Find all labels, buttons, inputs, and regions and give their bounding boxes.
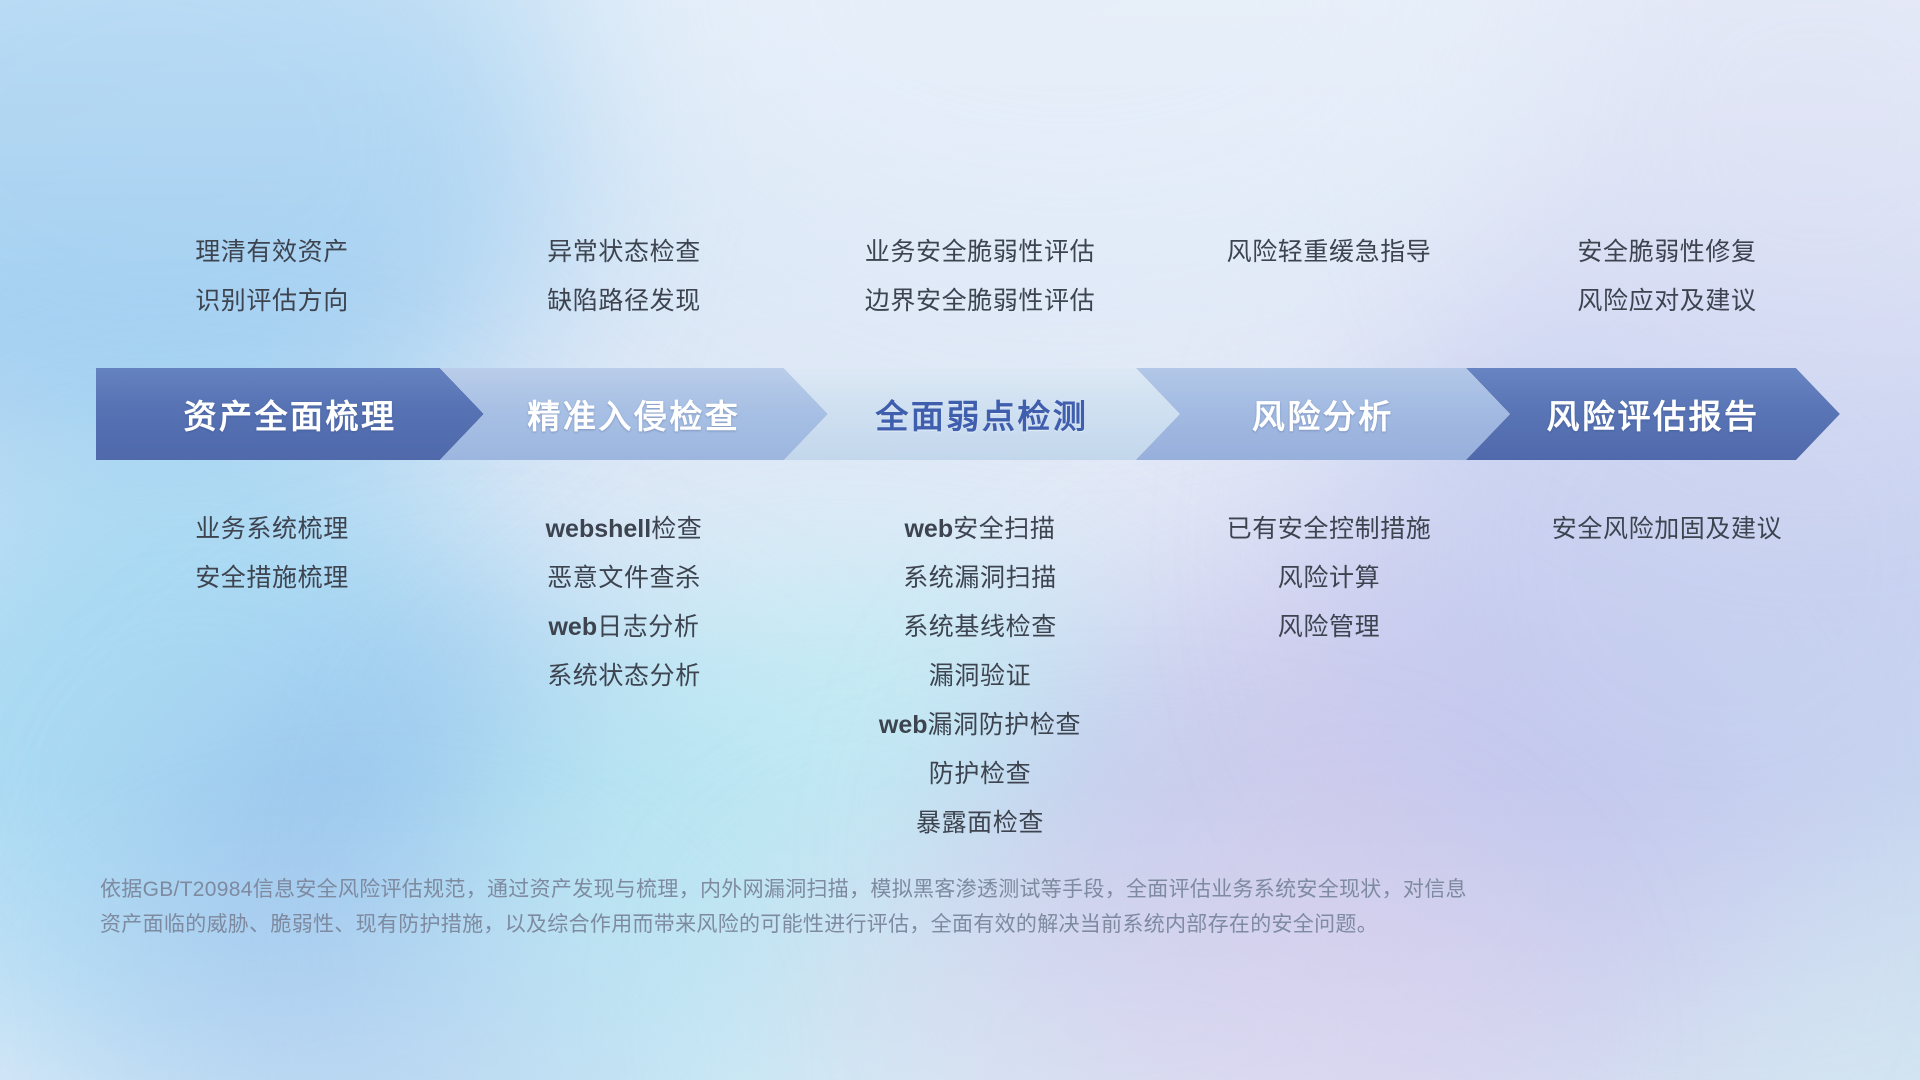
footer-line-1: 依据GB/T20984信息安全风险评估规范，通过资产发现与梳理，内外网漏洞扫描，…: [100, 872, 1640, 907]
bottom-items-row: 业务系统梳理 安全措施梳理 webshell检查 恶意文件查杀 web日志分析 …: [96, 505, 1836, 848]
top-items-row: 理清有效资产 识别评估方向 异常状态检查 缺陷路径发现 业务安全脆弱性评估 边界…: [96, 228, 1836, 326]
bottom-item: web漏洞防护检查: [800, 701, 1160, 750]
bottom-item: 已有安全控制措施: [1160, 505, 1498, 554]
top-item: 风险应对及建议: [1498, 277, 1836, 326]
footer-line-2: 资产面临的威胁、脆弱性、现有防护措施，以及综合作用而带来风险的可能性进行评估，全…: [100, 907, 1640, 942]
top-item: 理清有效资产: [96, 228, 448, 277]
bottom-item: web日志分析: [448, 603, 800, 652]
footer-description: 依据GB/T20984信息安全风险评估规范，通过资产发现与梳理，内外网漏洞扫描，…: [100, 872, 1640, 942]
bottom-item: 系统漏洞扫描: [800, 554, 1160, 603]
process-ribbon: 资产全面梳理 精准入侵检查 全面弱点检测 风险分析 风险评估报告: [96, 368, 1840, 460]
bottom-item: 风险计算: [1160, 554, 1498, 603]
bottom-column-stage-5: 安全风险加固及建议: [1498, 505, 1836, 554]
bottom-column-stage-3: web安全扫描 系统漏洞扫描 系统基线检查 漏洞验证 web漏洞防护检查 防护检…: [800, 505, 1160, 848]
bottom-item: 暴露面检查: [800, 799, 1160, 848]
bottom-item: 系统状态分析: [448, 652, 800, 701]
bottom-item: 系统基线检查: [800, 603, 1160, 652]
bottom-item: webshell检查: [448, 505, 800, 554]
bottom-item: 风险管理: [1160, 603, 1498, 652]
stage-chevron-4[interactable]: 风险分析: [1136, 368, 1510, 460]
top-item: 识别评估方向: [96, 277, 448, 326]
bottom-item: 漏洞验证: [800, 652, 1160, 701]
stage-chevron-5[interactable]: 风险评估报告: [1466, 368, 1840, 460]
top-item: 安全脆弱性修复: [1498, 228, 1836, 277]
stage-label-1: 资产全面梳理: [183, 390, 396, 438]
bottom-item: 防护检查: [800, 750, 1160, 799]
bottom-column-stage-4: 已有安全控制措施 风险计算 风险管理: [1160, 505, 1498, 652]
bottom-item: 业务系统梳理: [96, 505, 448, 554]
diagram-canvas: 理清有效资产 识别评估方向 异常状态检查 缺陷路径发现 业务安全脆弱性评估 边界…: [0, 0, 1920, 1080]
stage-chevron-3[interactable]: 全面弱点检测: [784, 368, 1180, 460]
stage-label-2: 精准入侵检查: [527, 390, 740, 438]
top-item: 风险轻重缓急指导: [1160, 228, 1498, 277]
stage-label-5: 风险评估报告: [1546, 390, 1759, 438]
top-item: 缺陷路径发现: [448, 277, 800, 326]
top-column-stage-1: 理清有效资产 识别评估方向: [96, 228, 448, 326]
top-column-stage-3: 业务安全脆弱性评估 边界安全脆弱性评估: [800, 228, 1160, 326]
bottom-item: 安全风险加固及建议: [1498, 505, 1836, 554]
bottom-column-stage-2: webshell检查 恶意文件查杀 web日志分析 系统状态分析: [448, 505, 800, 701]
top-column-stage-4: 风险轻重缓急指导: [1160, 228, 1498, 277]
bottom-item: 安全措施梳理: [96, 554, 448, 603]
top-column-stage-2: 异常状态检查 缺陷路径发现: [448, 228, 800, 326]
top-item: 边界安全脆弱性评估: [800, 277, 1160, 326]
stage-label-4: 风险分析: [1252, 390, 1394, 438]
top-item: 业务安全脆弱性评估: [800, 228, 1160, 277]
bottom-item: 恶意文件查杀: [448, 554, 800, 603]
stage-chevron-1[interactable]: 资产全面梳理: [96, 368, 484, 460]
top-item: 异常状态检查: [448, 228, 800, 277]
bottom-column-stage-1: 业务系统梳理 安全措施梳理: [96, 505, 448, 603]
stage-label-3: 全面弱点检测: [875, 390, 1088, 438]
top-column-stage-5: 安全脆弱性修复 风险应对及建议: [1498, 228, 1836, 326]
bottom-item: web安全扫描: [800, 505, 1160, 554]
stage-chevron-2[interactable]: 精准入侵检查: [440, 368, 828, 460]
